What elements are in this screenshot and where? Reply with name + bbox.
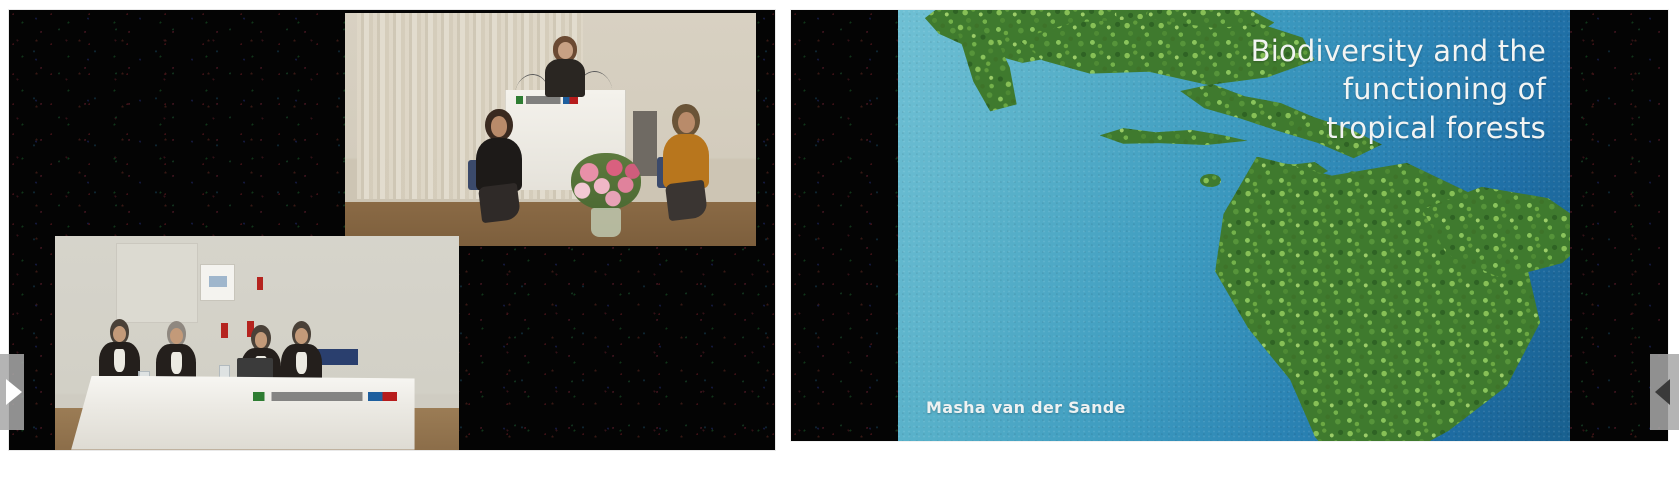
slide-panel-background: Biodiversity and the functioning of trop… — [791, 10, 1668, 441]
conference-table — [71, 376, 414, 450]
play-triangle-left-icon — [1655, 379, 1670, 405]
podium-panelist-right — [661, 104, 710, 216]
slide-title: Biodiversity and the functioning of trop… — [1216, 32, 1546, 147]
podium-photo-inset[interactable]: Speaker at lectern with two seated panel… — [345, 13, 756, 246]
collapse-right-panel-button[interactable] — [1650, 354, 1679, 430]
wageningen-logo — [516, 96, 578, 104]
table-photo-inset[interactable]: Four panelists seated behind a conferenc… — [55, 236, 459, 451]
video-panel[interactable]: Speaker at lectern with two seated panel… — [8, 9, 776, 451]
table-wall-poster — [200, 264, 234, 301]
slide-author-name: Masha van der Sande — [926, 398, 1126, 417]
exit-sign-icon — [257, 277, 263, 290]
small-island-landmass — [1200, 174, 1220, 187]
play-triangle-right-icon — [6, 379, 22, 405]
video-panel-background: Speaker at lectern with two seated panel… — [9, 10, 775, 450]
slide-title-line-3: tropical forests — [1216, 109, 1546, 147]
slide-title-line-1: Biodiversity and the — [1216, 32, 1546, 70]
expand-left-panel-button[interactable] — [0, 354, 24, 430]
slide-title-line-2: functioning of — [1216, 70, 1546, 108]
slide-image[interactable]: Biodiversity and the functioning of trop… — [898, 10, 1570, 441]
screen-root: Speaker at lectern with two seated panel… — [0, 0, 1679, 481]
podium-speaker-person — [542, 36, 587, 97]
exit-sign-icon — [221, 323, 228, 338]
table-wall-panel — [116, 243, 199, 323]
wageningen-logo — [253, 392, 397, 402]
flower-bouquet — [571, 153, 641, 237]
slide-panel[interactable]: Biodiversity and the functioning of trop… — [790, 9, 1669, 442]
podium-panelist-left — [474, 109, 523, 219]
